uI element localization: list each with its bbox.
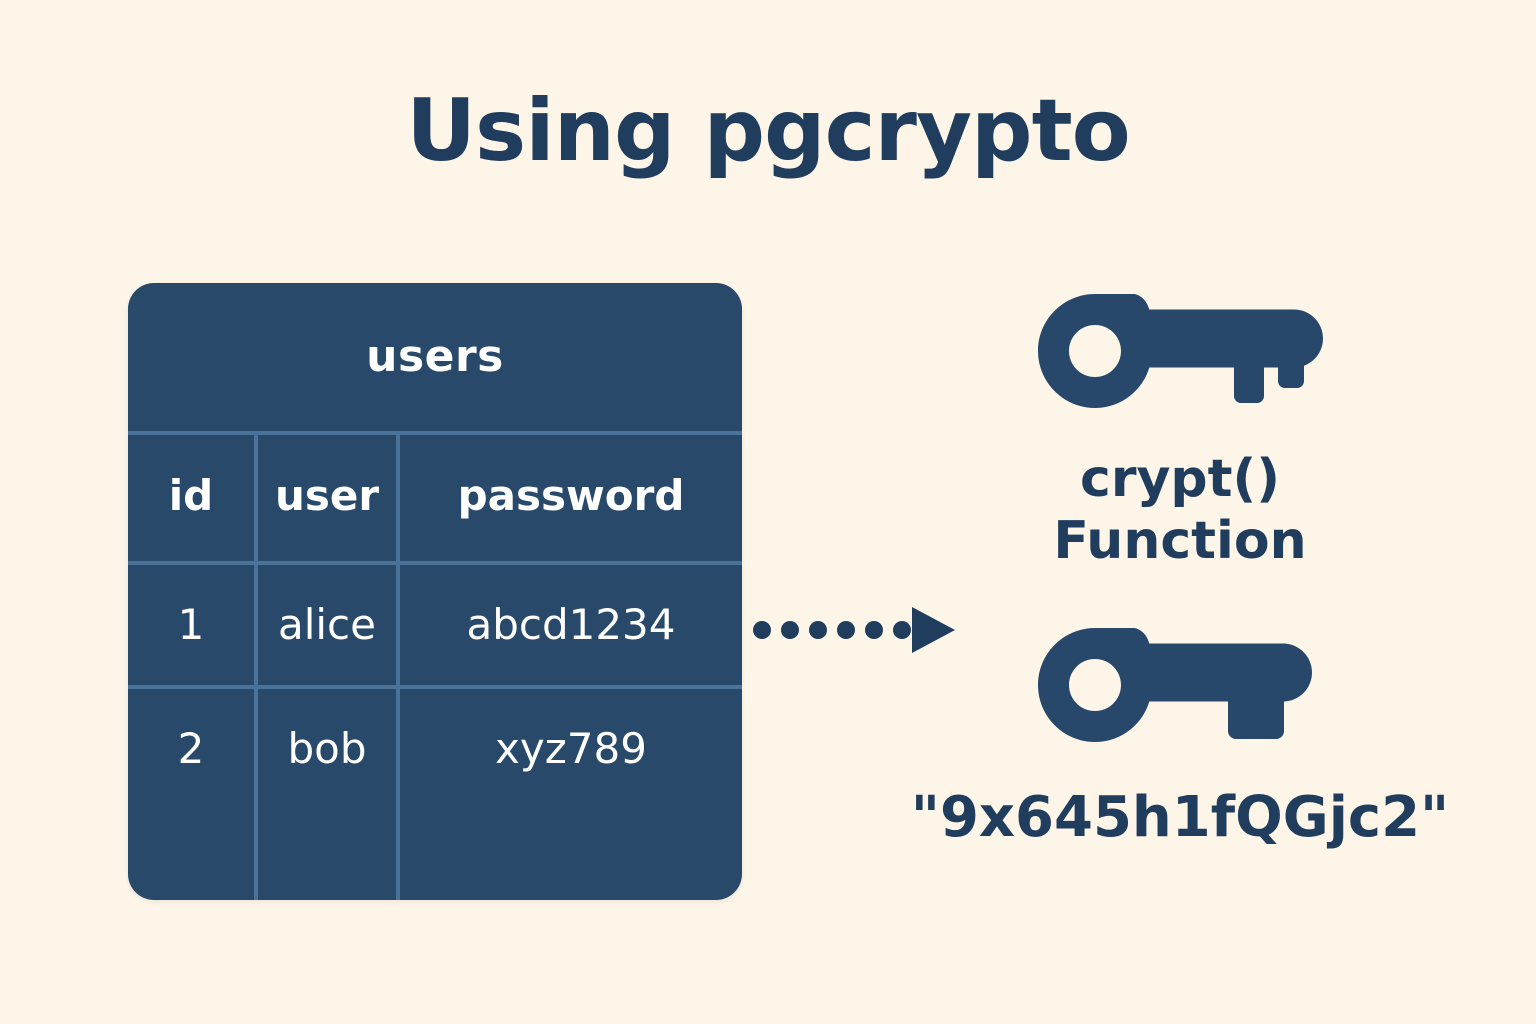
crypt-process-group: crypt() Function "9x645h1fQGjc2"	[860, 288, 1500, 888]
users-table-card: users id user password 1 alice abcd1234 …	[128, 283, 742, 900]
crypt-function-label: crypt() Function	[860, 448, 1500, 572]
column-header-password: password	[400, 431, 742, 561]
page-title: Using pgcrypto	[0, 88, 1536, 174]
column-header-user: user	[258, 431, 396, 561]
table-row: 1	[128, 565, 254, 685]
table-row: 2	[128, 689, 254, 809]
crypt-function-line-1: crypt()	[1080, 449, 1280, 509]
crypt-function-line-2: Function	[860, 510, 1500, 572]
table-row: xyz789	[400, 689, 742, 809]
column-header-id: id	[128, 431, 254, 561]
table-row: alice	[258, 565, 396, 685]
key-icon	[1038, 294, 1323, 413]
table-row: bob	[258, 689, 396, 809]
hash-result-label: "9x645h1fQGjc2"	[860, 785, 1500, 850]
table-name-label: users	[128, 283, 742, 431]
key-icon	[1038, 628, 1323, 747]
table-row: abcd1234	[400, 565, 742, 685]
